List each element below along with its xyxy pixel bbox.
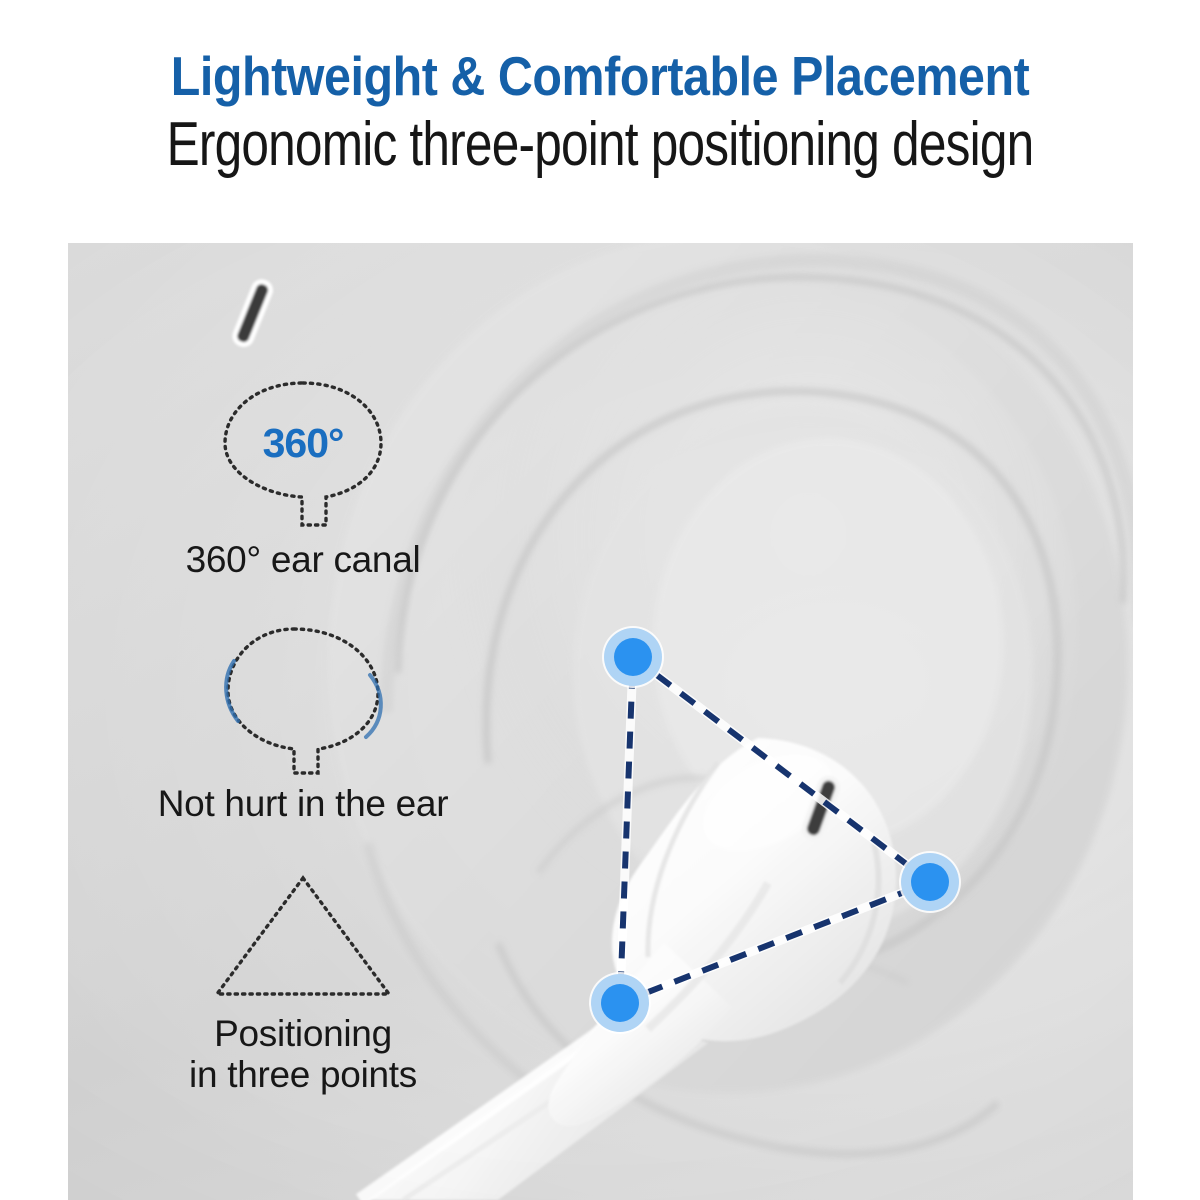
badge-360-text: 360° <box>263 420 344 466</box>
ear-photo-panel: 360° 360° ear canal Not hurt in the ear <box>68 243 1133 1200</box>
headline-block: Lightweight & Comfortable Placement Ergo… <box>0 48 1200 177</box>
feature-label-line: 360° ear canal <box>123 539 483 580</box>
earbud-outline-icon <box>198 617 408 782</box>
triangle-outline-icon <box>203 868 403 1008</box>
page-title: Lightweight & Comfortable Placement <box>72 48 1128 104</box>
right-contact-point <box>899 851 961 913</box>
feature-label-line: in three points <box>123 1054 483 1095</box>
bottom-contact-point <box>589 972 651 1034</box>
icon-wrap <box>123 615 483 783</box>
product-feature-graphic: Lightweight & Comfortable Placement Ergo… <box>0 0 1200 1200</box>
contact-point-markers <box>589 626 961 1034</box>
earbud-360-outline-icon: 360° <box>198 373 408 538</box>
feature-positioning-three-points: Positioning in three points <box>123 863 483 1096</box>
feature-360-ear-canal: 360° 360° ear canal <box>123 371 483 580</box>
feature-label: Not hurt in the ear <box>123 783 483 824</box>
icon-wrap <box>123 863 483 1013</box>
feature-label: 360° ear canal <box>123 539 483 580</box>
contact-dashed-triangle <box>620 657 930 1003</box>
icon-wrap: 360° <box>123 371 483 539</box>
feature-label-line: Positioning <box>123 1013 483 1054</box>
feature-not-hurt-in-the-ear: Not hurt in the ear <box>123 615 483 824</box>
top-contact-point <box>602 626 664 688</box>
page-subtitle: Ergonomic three-point positioning design <box>120 112 1080 177</box>
feature-label-line: Not hurt in the ear <box>123 783 483 824</box>
feature-label: Positioning in three points <box>123 1013 483 1096</box>
